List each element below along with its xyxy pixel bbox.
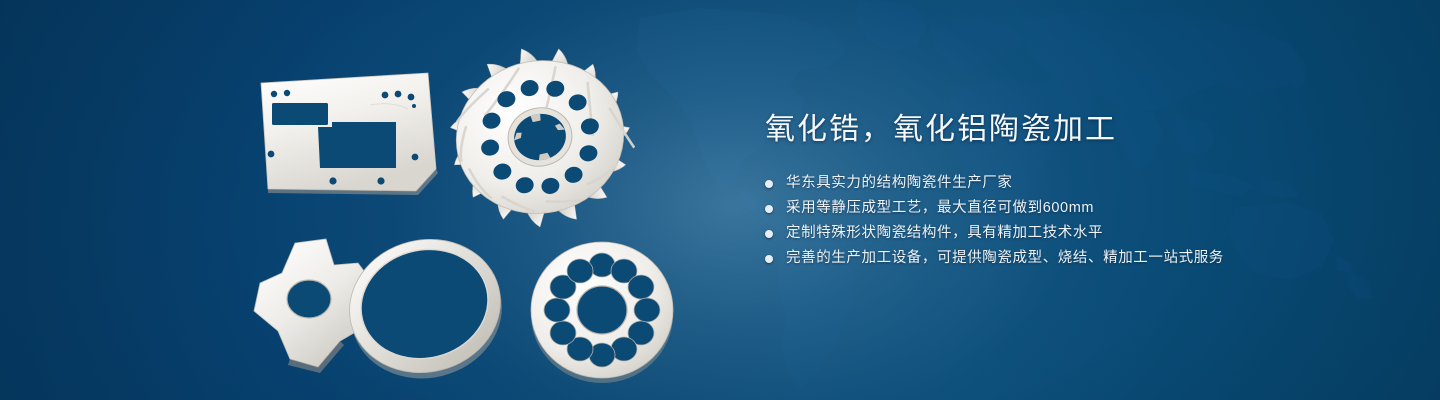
bullet-dot-icon	[765, 230, 773, 238]
bullet-item: 完善的生产加工设备，可提供陶瓷成型、烧结、精加工一站式服务	[765, 247, 1385, 270]
ceramic-ring-part	[340, 230, 510, 385]
ceramic-impeller-part	[445, 40, 635, 230]
bullet-text: 华东具实力的结构陶瓷件生产厂家	[786, 172, 1013, 195]
bullet-dot-icon	[765, 180, 773, 188]
bullet-dot-icon	[765, 205, 773, 213]
banner-text-block: 氧化锆，氧化铝陶瓷加工 华东具实力的结构陶瓷件生产厂家 采用等静压成型工艺，最大…	[765, 110, 1385, 272]
ceramic-perforated-disc-part	[520, 230, 685, 390]
bullet-item: 采用等静压成型工艺，最大直径可做到600mm	[765, 197, 1385, 220]
bullet-dot-icon	[765, 255, 773, 263]
hero-banner: 氧化锆，氧化铝陶瓷加工 华东具实力的结构陶瓷件生产厂家 采用等静压成型工艺，最大…	[0, 0, 1440, 400]
product-photo-group	[230, 40, 730, 390]
ceramic-plate-part	[250, 65, 450, 200]
banner-bullet-list: 华东具实力的结构陶瓷件生产厂家 采用等静压成型工艺，最大直径可做到600mm 定…	[765, 172, 1385, 270]
bullet-text: 采用等静压成型工艺，最大直径可做到600mm	[786, 197, 1094, 220]
bullet-text: 完善的生产加工设备，可提供陶瓷成型、烧结、精加工一站式服务	[786, 247, 1224, 270]
bullet-item: 华东具实力的结构陶瓷件生产厂家	[765, 172, 1385, 195]
bullet-item: 定制特殊形状陶瓷结构件，具有精加工技术水平	[765, 222, 1385, 245]
bullet-text: 定制特殊形状陶瓷结构件，具有精加工技术水平	[786, 222, 1103, 245]
banner-headline: 氧化锆，氧化铝陶瓷加工	[765, 110, 1385, 150]
